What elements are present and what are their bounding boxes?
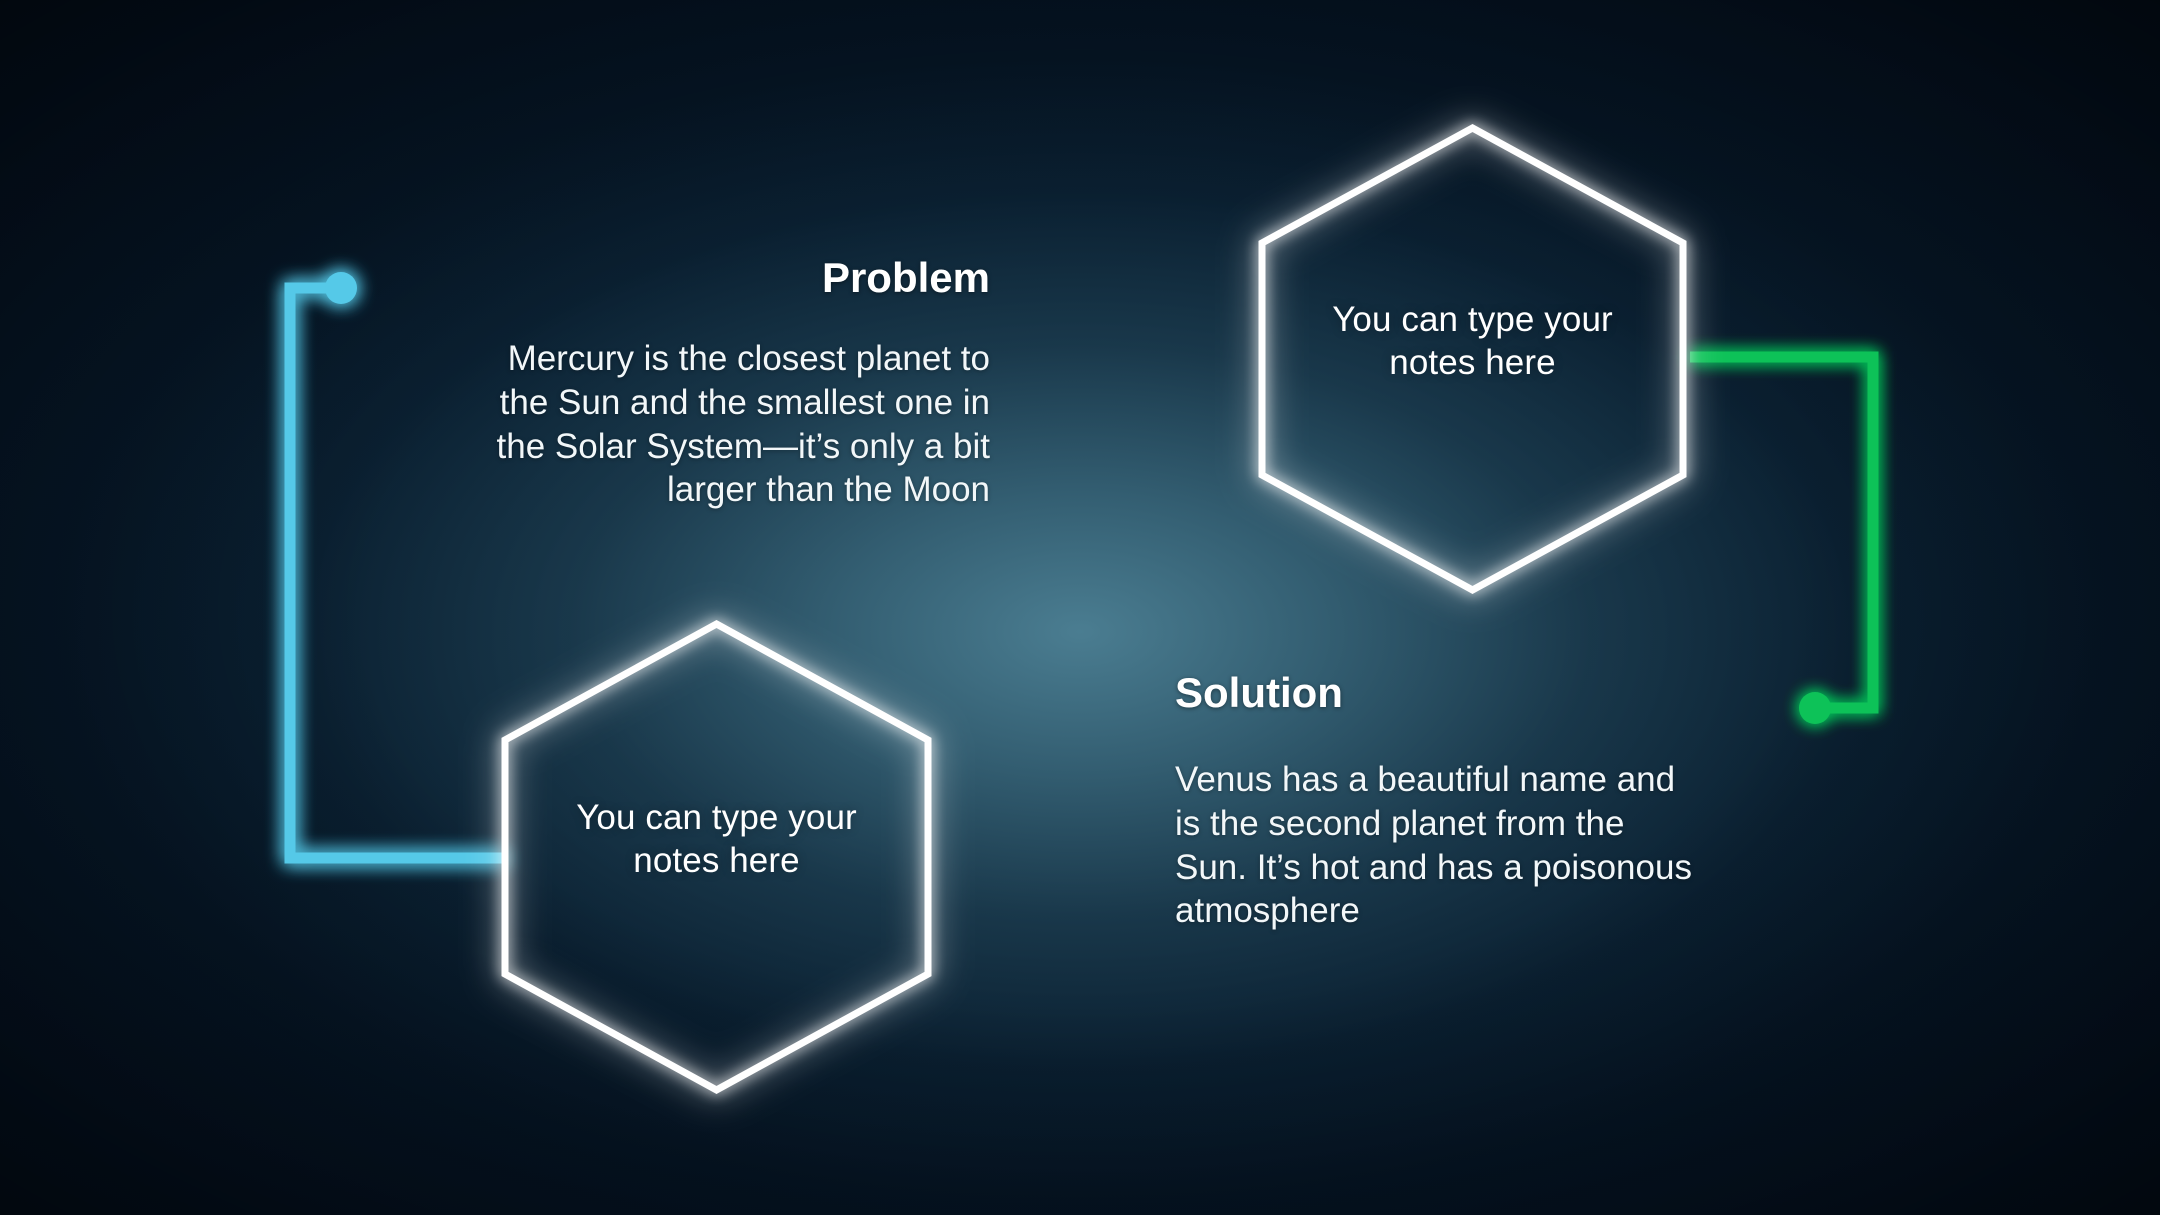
solution-title: Solution bbox=[1175, 670, 1855, 716]
solution-note-text: You can type your notes here bbox=[1247, 299, 1698, 384]
solution-connector-path bbox=[1690, 357, 1873, 708]
solution-body: Venus has a beautiful name and is the se… bbox=[1175, 758, 1855, 933]
problem-body: Mercury is the closest planet to the Sun… bbox=[330, 337, 990, 512]
connector-layer bbox=[0, 0, 2160, 1215]
solution-note-hexagon[interactable]: You can type your notes here bbox=[1247, 113, 1698, 605]
problem-note-text: You can type your notes here bbox=[490, 797, 943, 882]
problem-note-hexagon[interactable]: You can type your notes here bbox=[490, 609, 943, 1105]
solution-text-block: Solution Venus has a beautiful name and … bbox=[1175, 670, 1855, 933]
solution-connector bbox=[1690, 357, 1873, 724]
problem-text-block: Problem Mercury is the closest planet to… bbox=[330, 255, 990, 512]
slide-canvas: You can type your notes here You can typ… bbox=[0, 0, 2160, 1215]
problem-title: Problem bbox=[330, 255, 990, 301]
